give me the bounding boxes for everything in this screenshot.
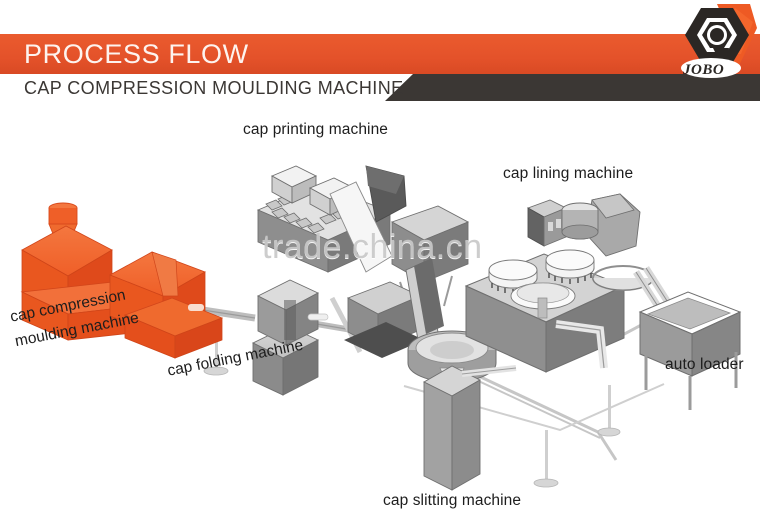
page-title: PROCESS FLOW — [24, 37, 249, 71]
logo-wordmark: JOBO — [683, 62, 724, 79]
jobo-logo: JOBO — [655, 2, 760, 100]
page-header: PROCESS FLOW CAP COMPRESSION MOULDING MA… — [0, 0, 760, 108]
label-cap-printing-machine: cap printing machine — [243, 121, 388, 139]
machine-cap-lining — [466, 194, 653, 372]
label-cap-lining-machine: cap lining machine — [503, 165, 633, 183]
machine-cap-folding — [253, 280, 328, 395]
process-flow-page: PROCESS FLOW CAP COMPRESSION MOULDING MA… — [0, 0, 760, 527]
label-cap-slitting-machine: cap slitting machine — [383, 492, 521, 510]
label-auto-loader: auto loader — [665, 356, 744, 374]
watermark-text: trade.china.cn — [262, 228, 483, 267]
page-subtitle: CAP COMPRESSION MOULDING MACHINE — [24, 77, 404, 99]
jobo-logo-mark — [655, 2, 760, 100]
